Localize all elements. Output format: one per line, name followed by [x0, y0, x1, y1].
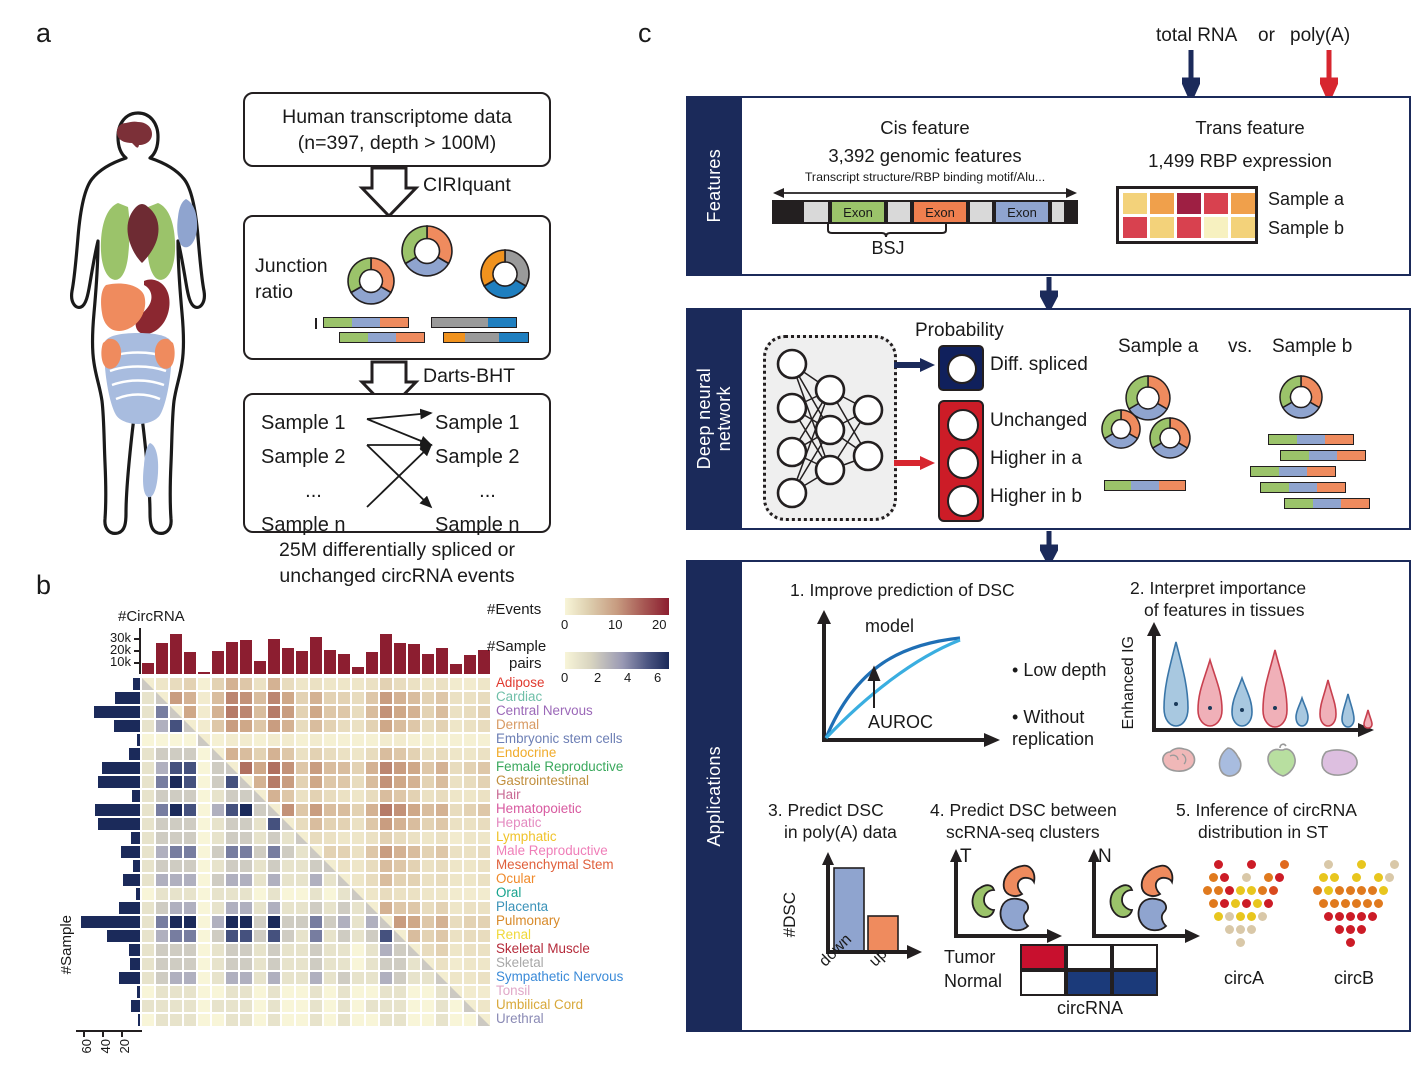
heatmap-cell	[296, 1014, 308, 1026]
heatmap-cell	[394, 734, 406, 746]
heatmap-cell	[240, 1014, 252, 1026]
spatial-spot	[1319, 873, 1328, 882]
heatmap-cell	[254, 1000, 266, 1012]
heatmap-cell	[394, 706, 406, 718]
circrna-bar	[296, 651, 308, 674]
heatmap-cell	[422, 776, 434, 788]
sample-tick-label: 60	[79, 1039, 94, 1053]
heatmap-cell	[436, 678, 448, 690]
heatmap-cell	[156, 706, 168, 718]
heatmap-cell	[198, 902, 210, 914]
circrna-bar	[422, 654, 434, 674]
heatmap-cell	[282, 888, 294, 900]
heatmap-cell	[324, 930, 336, 942]
heatmap-cell	[394, 888, 406, 900]
heatmap-cell	[156, 902, 168, 914]
heatmap-cell	[212, 930, 224, 942]
read-segment-bar	[1284, 498, 1370, 509]
heatmap-cell	[184, 804, 196, 816]
heatmap-cell	[394, 874, 406, 886]
heatmap-cell	[156, 832, 168, 844]
heatmap-cell	[310, 1000, 322, 1012]
heatmap-cell	[450, 944, 462, 956]
sample-left-column: Sample 1 Sample 2 ... Sample n	[261, 406, 366, 542]
heatmap-cell	[450, 958, 462, 970]
heatmap-cell	[240, 720, 252, 732]
heatmap-cell	[408, 930, 420, 942]
heatmap-cell	[324, 1014, 336, 1026]
spatial-spot	[1214, 886, 1223, 895]
heatmap-cell	[394, 902, 406, 914]
heatmap-cell	[142, 734, 154, 746]
heatmap-cell	[422, 748, 434, 760]
heatmap-cell	[324, 972, 336, 984]
heatmap-cell	[394, 1014, 406, 1026]
total-rna-arrow-icon	[1182, 50, 1200, 100]
sample-bar	[129, 748, 140, 760]
tumor-normal-cell	[1112, 944, 1158, 970]
heatmap-cell	[184, 692, 196, 704]
applications-side-label: Applications	[686, 560, 742, 1032]
heatmap-cell	[170, 678, 182, 690]
heatmap-cell	[464, 944, 476, 956]
spatial-spot	[1225, 912, 1234, 921]
human-body-organs-icon	[48, 95, 228, 545]
heatmap-cell	[366, 958, 378, 970]
heatmap-cell	[170, 916, 182, 928]
intron-segment	[772, 200, 802, 224]
rbp-heat-cell	[1204, 193, 1228, 214]
cis-feature-count: 3,392 genomic features	[775, 145, 1075, 167]
heatmap-cell	[226, 706, 238, 718]
heatmap-cell	[282, 706, 294, 718]
heatmap-cell	[366, 734, 378, 746]
circrna-donut-icon	[1148, 416, 1192, 460]
spatial-spot	[1368, 912, 1377, 921]
exon-segment-2: Exon	[912, 200, 968, 224]
heatmap-cell	[394, 776, 406, 788]
heatmap-cell	[282, 818, 294, 830]
heatmap-cell	[268, 832, 280, 844]
heatmap-cell	[240, 972, 252, 984]
comparison-vs-label: vs.	[1228, 336, 1252, 358]
spatial-spot	[1209, 873, 1218, 882]
heatmap-cell	[310, 888, 322, 900]
liver-icon	[1322, 750, 1357, 775]
sample-bar	[98, 818, 140, 830]
heatmap-cell	[464, 790, 476, 802]
heatmap-cell	[296, 762, 308, 774]
heatmap-cell	[226, 846, 238, 858]
heatmap-cell	[408, 916, 420, 928]
total-rna-label: total RNA	[1156, 25, 1237, 47]
rbp-heat-cell	[1150, 193, 1174, 214]
heatmap-cell	[240, 776, 252, 788]
heatmap-cell	[254, 972, 266, 984]
sample-bar	[107, 930, 140, 942]
heatmap-cell	[450, 986, 462, 998]
heatmap-cell	[450, 916, 462, 928]
transcriptome-line1: Human transcriptome data	[282, 104, 512, 130]
heatmap-cell	[352, 818, 364, 830]
feature-span-arrow-icon	[772, 186, 1078, 198]
tumor-normal-cell	[1020, 970, 1066, 996]
heatmap-cell	[436, 818, 448, 830]
heatmap-cell	[408, 874, 420, 886]
heatmap-cell	[338, 902, 350, 914]
heatmap-cell	[324, 706, 336, 718]
heatmap-cell	[408, 790, 420, 802]
heatmap-cell	[268, 916, 280, 928]
heatmap-cell	[170, 902, 182, 914]
heatmap-cell	[464, 930, 476, 942]
comparison-sample-b-label: Sample b	[1272, 336, 1352, 358]
heatmap-cell	[366, 902, 378, 914]
sample-bar	[129, 944, 140, 956]
spatial-spot	[1335, 925, 1344, 934]
heatmap-cell	[310, 762, 322, 774]
heatmap-cell	[240, 846, 252, 858]
heatmap-cell	[380, 804, 392, 816]
heatmap-cell	[226, 888, 238, 900]
sample-bar-chart	[78, 678, 140, 1028]
circrna-axis-title: #CircRNA	[118, 608, 185, 625]
heatmap-cell	[142, 804, 154, 816]
heatmap-cell	[436, 902, 448, 914]
heatmap-cell	[464, 902, 476, 914]
heatmap-cell	[394, 944, 406, 956]
heatmap-cell	[324, 734, 336, 746]
higher-in-b-label: Higher in b	[990, 486, 1082, 508]
heatmap-cell	[450, 832, 462, 844]
spatial-spot	[1357, 860, 1366, 869]
rbp-heat-cell	[1150, 217, 1174, 238]
heatmap-cell	[142, 972, 154, 984]
heatmap-cell	[478, 776, 490, 788]
heatmap-cell	[296, 930, 308, 942]
spatial-spot	[1374, 899, 1383, 908]
heatmap-cell	[226, 874, 238, 886]
heatmap-cell	[212, 762, 224, 774]
heatmap-cell	[366, 762, 378, 774]
heatmap-cell	[366, 748, 378, 760]
heatmap-cell	[408, 818, 420, 830]
tumor-normal-grid	[1020, 944, 1160, 996]
ciriquant-label: CIRIquant	[423, 174, 511, 197]
heatmap-cell	[212, 818, 224, 830]
tumor-normal-cell	[1112, 970, 1158, 996]
spatial-spot	[1324, 860, 1333, 869]
heatmap-cell	[156, 748, 168, 760]
brain-icon	[1163, 748, 1195, 771]
dnn-blue-arrow-icon	[894, 358, 936, 372]
heatmap-cell	[324, 916, 336, 928]
heatmap-cell	[254, 678, 266, 690]
heatmap-cell	[142, 986, 154, 998]
heatmap-cell	[310, 902, 322, 914]
heatmap-cell	[366, 678, 378, 690]
heatmap-cell	[226, 832, 238, 844]
spatial-spot	[1280, 860, 1289, 869]
spatial-spot	[1357, 925, 1366, 934]
heatmap-cell	[478, 846, 490, 858]
heatmap-cell	[170, 720, 182, 732]
panel-a: a Human	[0, 0, 620, 600]
heatmap-cell	[394, 762, 406, 774]
heatmap-cell	[380, 860, 392, 872]
heatmap-cell	[324, 804, 336, 816]
sample-b-circrna-group	[1250, 372, 1410, 522]
heatmap-cell	[282, 860, 294, 872]
heatmap-cell	[338, 888, 350, 900]
heatmap-cell	[394, 846, 406, 858]
spatial-spot	[1258, 886, 1267, 895]
heatmap-cell	[436, 804, 448, 816]
heatmap-cell	[408, 972, 420, 984]
heatmap-cell	[212, 986, 224, 998]
heatmap-cell	[184, 860, 196, 872]
heatmap-cell	[450, 888, 462, 900]
circrna-bar	[450, 664, 462, 674]
heatmap-cell	[142, 1014, 154, 1026]
circrna-tick-mark	[134, 662, 139, 664]
dnn-side-line2: network	[714, 386, 734, 451]
heatmap-cell	[464, 776, 476, 788]
spatial-spot	[1220, 873, 1229, 882]
sample-bar	[130, 958, 140, 970]
heatmap-cell	[226, 986, 238, 998]
heatmap-cell	[338, 944, 350, 956]
heatmap-cell	[450, 706, 462, 718]
heatmap-cell	[366, 846, 378, 858]
heatmap-cell	[170, 804, 182, 816]
heatmap-cell	[464, 832, 476, 844]
heatmap-cell	[198, 832, 210, 844]
spatial-spot	[1203, 886, 1212, 895]
spatial-spot	[1225, 925, 1234, 934]
spatial-spot	[1247, 912, 1256, 921]
heatmap-cell	[464, 720, 476, 732]
heatmap-cell	[352, 804, 364, 816]
heatmap-cell	[380, 958, 392, 970]
heatmap-cell	[268, 1014, 280, 1026]
heatmap-cell	[380, 1000, 392, 1012]
probability-label: Probability	[915, 320, 1004, 342]
heatmap-cell	[198, 860, 210, 872]
circrna-bar	[310, 637, 322, 674]
heatmap-cell	[464, 748, 476, 760]
heatmap-cell	[184, 1014, 196, 1026]
heatmap-cell	[394, 986, 406, 998]
heatmap-cell	[366, 916, 378, 928]
heatmap-cell	[268, 860, 280, 872]
heatmap-cell	[212, 1000, 224, 1012]
heatmap-cell	[380, 692, 392, 704]
sample-left-1: Sample 1	[261, 406, 366, 440]
heatmap-cell	[184, 972, 196, 984]
circrna-donut-icon	[1124, 374, 1172, 422]
heatmap-cell	[422, 902, 434, 914]
heatmap-cell	[464, 1014, 476, 1026]
heatmap-cell	[478, 888, 490, 900]
heatmap-cell	[212, 776, 224, 788]
heatmap-cell	[254, 888, 266, 900]
heatmap-cell	[324, 1000, 336, 1012]
heatmap-cell	[268, 720, 280, 732]
heatmap-cell	[226, 944, 238, 956]
heatmap-cell	[156, 930, 168, 942]
read-segment-bar	[1268, 434, 1354, 445]
spatial-spot	[1379, 886, 1388, 895]
heatmap-cell	[226, 818, 238, 830]
bsj-label: BSJ	[826, 238, 950, 259]
heatmap-cell	[422, 846, 434, 858]
heatmap-cell	[268, 874, 280, 886]
spatial-circb-dotplot	[1306, 860, 1402, 960]
spatial-spot	[1253, 899, 1262, 908]
heatmap-cell	[436, 692, 448, 704]
rbp-heat-cell	[1177, 193, 1201, 214]
heatmap-cell	[296, 818, 308, 830]
heatmap-cell	[310, 832, 322, 844]
exon-segment-1: Exon	[830, 200, 886, 224]
heatmap-cell	[422, 1014, 434, 1026]
heatmap-cell	[310, 678, 322, 690]
heatmap-cell	[198, 972, 210, 984]
heatmap-cell	[422, 692, 434, 704]
sample-bar	[95, 804, 140, 816]
spatial-spot	[1242, 873, 1251, 882]
heatmap-cell	[380, 888, 392, 900]
sample-axis-ticks: 604020	[76, 1030, 142, 1068]
heatmap-cell	[450, 776, 462, 788]
heatmap-cell	[338, 958, 350, 970]
heatmap-cell	[240, 832, 252, 844]
heatmap-cell	[268, 986, 280, 998]
heatmap-cell	[254, 748, 266, 760]
bullet-low-depth-text: Low depth	[1023, 660, 1106, 680]
heatmap-cell	[422, 930, 434, 942]
heatmap-cell	[296, 958, 308, 970]
heatmap-cell	[212, 790, 224, 802]
heatmap-cell	[156, 762, 168, 774]
heatmap-cell	[478, 860, 490, 872]
sample-bar	[133, 678, 140, 690]
intron-segment	[1066, 200, 1078, 224]
heatmap-cell	[436, 734, 448, 746]
spatial-spot	[1209, 899, 1218, 908]
heatmap-cell	[268, 902, 280, 914]
heart-icon	[1268, 744, 1295, 776]
heatmap-cell	[324, 832, 336, 844]
circrna-donut-icon	[1278, 374, 1324, 420]
heatmap-cell	[324, 692, 336, 704]
heatmap-cell	[436, 832, 448, 844]
heatmap-cell	[170, 748, 182, 760]
heatmap-cell	[478, 832, 490, 844]
heatmap-cell	[394, 916, 406, 928]
heatmap-cell	[212, 860, 224, 872]
heatmap-cell	[268, 692, 280, 704]
heatmap-cell	[184, 832, 196, 844]
heatmap-cell	[450, 1000, 462, 1012]
heatmap-cell	[198, 734, 210, 746]
heatmap-cell	[156, 1014, 168, 1026]
heatmap-cell	[408, 734, 420, 746]
heatmap-cell	[198, 818, 210, 830]
heatmap-cell	[254, 790, 266, 802]
heatmap-cell	[226, 776, 238, 788]
heatmap-cell	[240, 804, 252, 816]
circrna-bar	[184, 652, 196, 674]
circrna-bar	[338, 654, 350, 674]
heatmap-cell	[226, 972, 238, 984]
heatmap-cell	[352, 790, 364, 802]
cis-feature-subtitle: Transcript structure/RBP binding motif/A…	[762, 170, 1088, 184]
heatmap-cell	[184, 930, 196, 942]
events-tick-0: 0	[561, 617, 568, 632]
spatial-spot	[1225, 886, 1234, 895]
sample-right-1: Sample 1	[435, 406, 540, 440]
heatmap-cell	[198, 986, 210, 998]
heatmap-cell	[408, 776, 420, 788]
heatmap-cell	[240, 1000, 252, 1012]
sample-bar	[115, 692, 140, 704]
heatmap-cell	[212, 916, 224, 928]
heatmap-cell	[170, 888, 182, 900]
heatmap-cell	[352, 860, 364, 872]
ciriquant-arrow-icon	[358, 166, 420, 218]
normal-row-label: Normal	[944, 971, 1002, 992]
heatmap-cell	[450, 1014, 462, 1026]
sample-left-2: Sample 2	[261, 440, 366, 474]
spatial-spot	[1352, 899, 1361, 908]
heatmap-cell	[142, 832, 154, 844]
heatmap-cell	[198, 846, 210, 858]
heatmap-cell	[296, 776, 308, 788]
heatmap-cell	[240, 762, 252, 774]
heatmap-cell	[422, 860, 434, 872]
heatmap-cell	[296, 874, 308, 886]
heatmap-cell	[324, 986, 336, 998]
heatmap-cell	[422, 958, 434, 970]
heatmap-cell	[142, 888, 154, 900]
heatmap-cell	[170, 790, 182, 802]
heatmap-cell	[408, 706, 420, 718]
heatmap-cell	[436, 944, 448, 956]
bullet-without-replication: • Without replication	[1012, 706, 1122, 750]
heatmap-cell	[338, 678, 350, 690]
heatmap-cell	[324, 846, 336, 858]
heatmap-cell	[198, 916, 210, 928]
heatmap-cell	[478, 804, 490, 816]
heatmap-cell	[170, 776, 182, 788]
heatmap-cell	[212, 678, 224, 690]
spatial-spot	[1214, 860, 1223, 869]
read-segment-bar	[1260, 482, 1346, 493]
heatmap-cell	[296, 692, 308, 704]
heatmap-cell	[352, 748, 364, 760]
heatmap-cell	[156, 916, 168, 928]
heatmap-cell	[198, 874, 210, 886]
circrna-bar-chart	[142, 632, 492, 674]
heatmap-cell	[268, 734, 280, 746]
heatmap-cell	[156, 944, 168, 956]
heatmap-cell	[422, 790, 434, 802]
sample-left-3: ...	[261, 474, 366, 508]
panel-b: b #CircRNA 30k20k10k #Sample 604020 Adip…	[0, 560, 680, 1061]
heatmap-cell	[380, 916, 392, 928]
